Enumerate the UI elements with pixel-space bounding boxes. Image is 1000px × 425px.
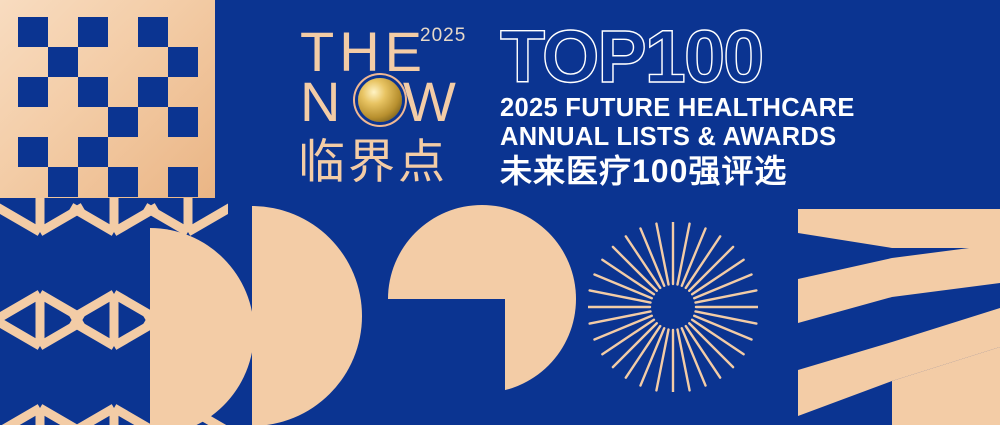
sunburst-ray bbox=[677, 330, 689, 391]
sunburst-ray bbox=[590, 290, 651, 302]
checker-cell bbox=[138, 77, 168, 107]
checker-cell bbox=[108, 17, 138, 47]
checker-cell bbox=[48, 77, 78, 107]
checker-cell bbox=[138, 47, 168, 77]
checkerboard-panel bbox=[0, 0, 215, 198]
logo-year-superscript: 2025 bbox=[420, 25, 466, 47]
logo-letter-n: N bbox=[300, 74, 344, 130]
checker-cell bbox=[78, 137, 108, 167]
headline-block: TOP100 2025 FUTURE HEALTHCARE ANNUAL LIS… bbox=[500, 22, 845, 188]
notched-circle bbox=[388, 205, 576, 393]
sunburst-ray bbox=[590, 311, 651, 323]
sunburst-ray bbox=[656, 330, 668, 391]
checker-cell bbox=[168, 47, 198, 77]
notched-circle-icon bbox=[388, 205, 576, 393]
checker-cell bbox=[48, 107, 78, 137]
checker-cell bbox=[48, 17, 78, 47]
sunburst-decoration bbox=[588, 222, 758, 392]
checker-cell bbox=[108, 167, 138, 197]
checker-cell bbox=[18, 77, 48, 107]
logo-word-now: N W bbox=[296, 74, 486, 130]
promo-banner: THE 2025 N W 临界点 TOP100 2025 FUTURE HEAL… bbox=[0, 0, 1000, 425]
headline-line-1: 2025 FUTURE HEALTHCARE bbox=[500, 96, 845, 121]
checker-cell bbox=[168, 77, 198, 107]
sunburst-ray bbox=[677, 224, 689, 285]
checker-cell bbox=[18, 167, 48, 197]
checker-cell bbox=[18, 17, 48, 47]
sunburst-icon bbox=[588, 222, 758, 392]
logo-block: THE 2025 N W 临界点 bbox=[296, 18, 486, 193]
logo-letter-w: W bbox=[403, 74, 458, 130]
checker-cell bbox=[78, 107, 108, 137]
checker-cell bbox=[168, 137, 198, 167]
checkerboard-grid bbox=[18, 17, 198, 197]
semicircle-small bbox=[150, 228, 254, 425]
checker-cell bbox=[108, 77, 138, 107]
semicircle-large bbox=[252, 206, 362, 425]
chevron-stripes-panel bbox=[785, 200, 1000, 425]
sunburst-ray bbox=[696, 290, 757, 302]
headline-chinese: 未来医疗100强评选 bbox=[500, 154, 845, 188]
checker-cell bbox=[108, 47, 138, 77]
checker-cell bbox=[168, 107, 198, 137]
checker-cell bbox=[78, 17, 108, 47]
chevron-stripes-icon bbox=[785, 200, 1000, 425]
checker-cell bbox=[108, 137, 138, 167]
headline-line-2: ANNUAL LISTS & AWARDS bbox=[500, 125, 845, 150]
checker-cell bbox=[18, 107, 48, 137]
checker-cell bbox=[138, 17, 168, 47]
logo-chinese-name: 临界点 bbox=[298, 138, 448, 185]
checker-cell bbox=[48, 137, 78, 167]
checker-cell bbox=[78, 47, 108, 77]
checker-cell bbox=[48, 47, 78, 77]
checker-cell bbox=[78, 167, 108, 197]
gold-sphere-icon bbox=[358, 78, 402, 122]
checker-cell bbox=[138, 167, 168, 197]
checker-cell bbox=[78, 77, 108, 107]
checker-cell bbox=[108, 107, 138, 137]
sunburst-ray bbox=[696, 311, 757, 323]
checker-cell bbox=[48, 167, 78, 197]
checker-cell bbox=[168, 17, 198, 47]
checker-cell bbox=[18, 47, 48, 77]
sunburst-ray bbox=[656, 224, 668, 285]
top100-title: TOP100 bbox=[500, 22, 845, 92]
checker-cell bbox=[138, 137, 168, 167]
checker-cell bbox=[168, 167, 198, 197]
checker-cell bbox=[18, 137, 48, 167]
checker-cell bbox=[138, 107, 168, 137]
